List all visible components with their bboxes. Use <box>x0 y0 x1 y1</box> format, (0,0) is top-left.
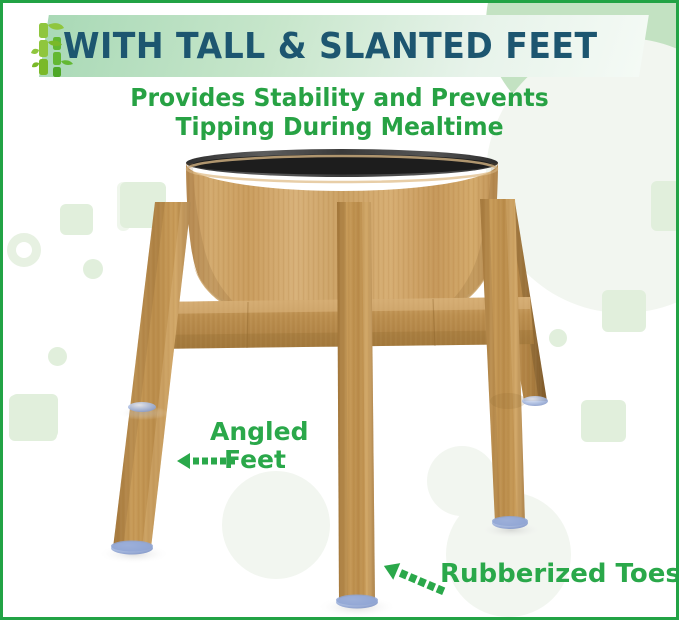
annotation-angled-feet: Angled Feet <box>210 418 300 474</box>
rubberized-toe <box>128 402 156 412</box>
rubberized-toe <box>111 541 153 555</box>
stand-leg-front-center <box>337 202 375 601</box>
stand-leg-front-left <box>113 202 191 548</box>
annotation-angled-feet-line2: Feet <box>210 446 300 474</box>
annotation-rubberized-toes: Rubberized Toes <box>440 559 679 589</box>
rubberized-toe <box>492 516 528 529</box>
rubberized-toe <box>336 595 378 609</box>
annotation-angled-feet-line1: Angled <box>210 418 300 446</box>
rubberized-toe <box>522 396 548 406</box>
infographic-canvas: WITH TALL & SLANTED FEET Provides Stabil… <box>0 0 679 620</box>
product-photo <box>3 3 679 620</box>
